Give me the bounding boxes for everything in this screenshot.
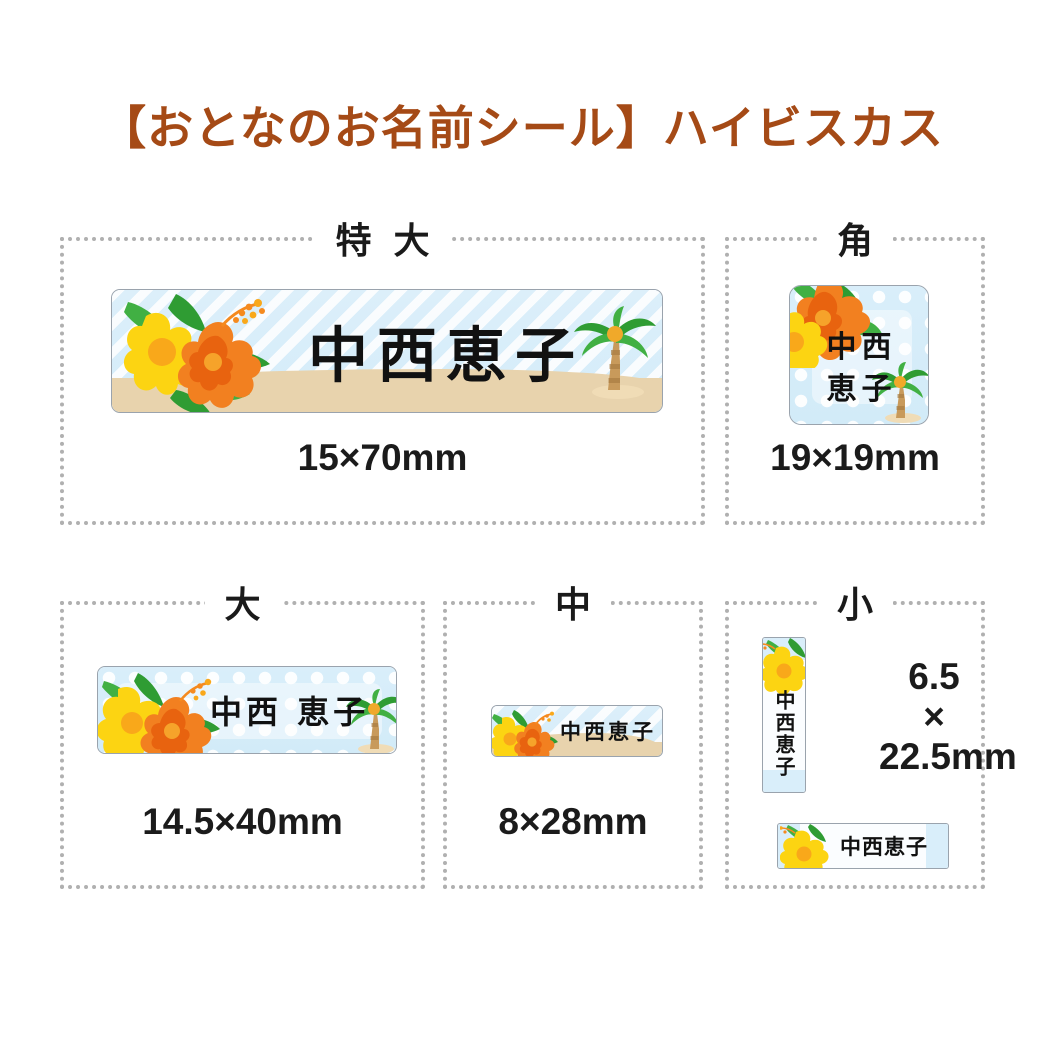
sticker-name-text: 中西恵子 xyxy=(560,716,656,746)
sticker-name-line1: 中西 xyxy=(790,322,928,366)
panel-label-dai: 大 xyxy=(204,579,280,631)
panel-sho: 小 中西恵子 xyxy=(725,601,985,889)
panel-size-dai: 14.5×40mm xyxy=(64,801,421,843)
size-line-2: × xyxy=(879,697,989,737)
panel-label-kaku: 角 xyxy=(817,215,893,267)
blue-edge-left xyxy=(778,824,800,868)
blue-edge-right xyxy=(926,824,948,868)
sticker-sho-horizontal[interactable]: 中西恵子 xyxy=(777,823,949,869)
panel-size-kaku: 19×19mm xyxy=(729,437,981,479)
sticker-sho-vertical[interactable]: 中西恵子 xyxy=(762,637,806,793)
sticker-kaku[interactable]: 中西 恵子 xyxy=(789,285,929,425)
sticker-tokudai[interactable]: 中西恵子 xyxy=(111,289,663,413)
page-title: 【おとなのお名前シール】ハイビスカス xyxy=(0,92,1044,158)
panel-tokudai: 特 大 xyxy=(60,237,705,525)
sticker-name-text: 中西恵子 xyxy=(840,831,928,861)
size-line-3: 22.5mm xyxy=(879,737,989,777)
sticker-chu[interactable]: 中西恵子 xyxy=(491,705,663,757)
size-line-1: 6.5 xyxy=(879,657,989,697)
sticker-name-text: 中西 恵子 xyxy=(210,687,369,733)
panel-label-tokudai: 特 大 xyxy=(315,215,449,267)
panel-kaku: 角 xyxy=(725,237,985,525)
sticker-name-text: 中西恵子 xyxy=(774,690,794,778)
panel-label-sho: 小 xyxy=(817,579,893,631)
blue-edge-top xyxy=(763,638,805,660)
panel-size-tokudai: 15×70mm xyxy=(64,437,701,479)
panel-dai: 大 xyxy=(60,601,425,889)
panel-label-chu: 中 xyxy=(535,579,611,631)
panel-size-chu: 8×28mm xyxy=(447,801,699,843)
sticker-name-text: 中西恵子 xyxy=(308,308,584,395)
sticker-name-line2: 恵子 xyxy=(790,364,928,408)
sticker-dai[interactable]: 中西 恵子 xyxy=(97,666,397,754)
panel-size-sho: 6.5 × 22.5mm xyxy=(879,657,989,777)
panel-chu: 中 xyxy=(443,601,703,889)
